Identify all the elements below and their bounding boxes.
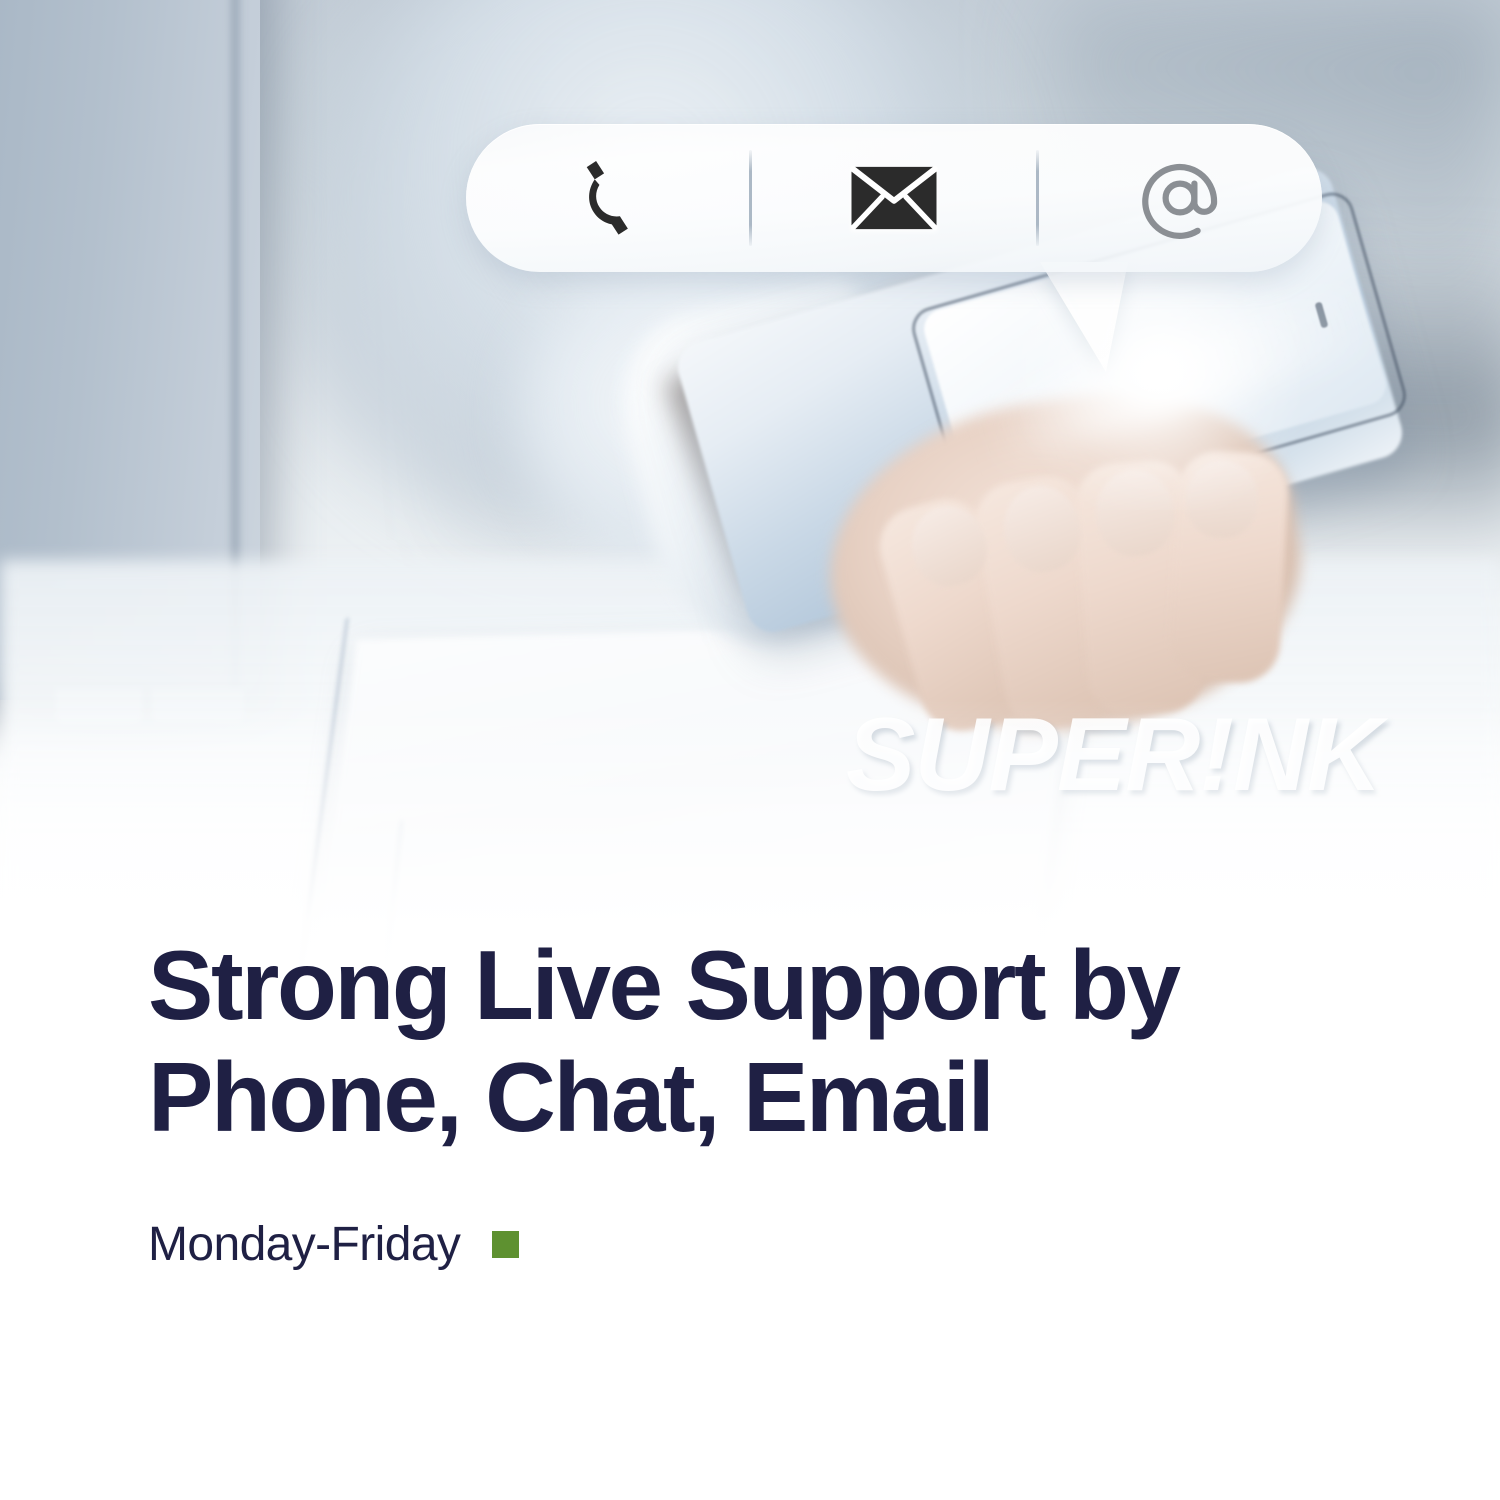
accent-square [492,1231,519,1258]
at-sign-icon[interactable] [1132,150,1228,246]
speech-bubble-tail [1040,262,1128,372]
contact-methods-bar [466,124,1322,272]
page-title: Strong Live Support by Phone, Chat, Emai… [148,930,1308,1153]
promo-banner: SUPER!NK [0,0,1500,1500]
headline-line-1: Strong Live Support by [148,930,1179,1040]
contact-email-slot[interactable] [752,124,1035,272]
contact-at-slot[interactable] [1039,124,1322,272]
envelope-icon[interactable] [848,164,940,232]
text-content: Strong Live Support by Phone, Chat, Emai… [148,930,1398,1272]
phone-handset-icon[interactable] [565,155,651,241]
availability-text: Monday-Friday [148,1217,460,1272]
headline-line-2: Phone, Chat, Email [148,1042,992,1152]
contact-phone-slot[interactable] [466,124,749,272]
subline-row: Monday-Friday [148,1217,1398,1272]
